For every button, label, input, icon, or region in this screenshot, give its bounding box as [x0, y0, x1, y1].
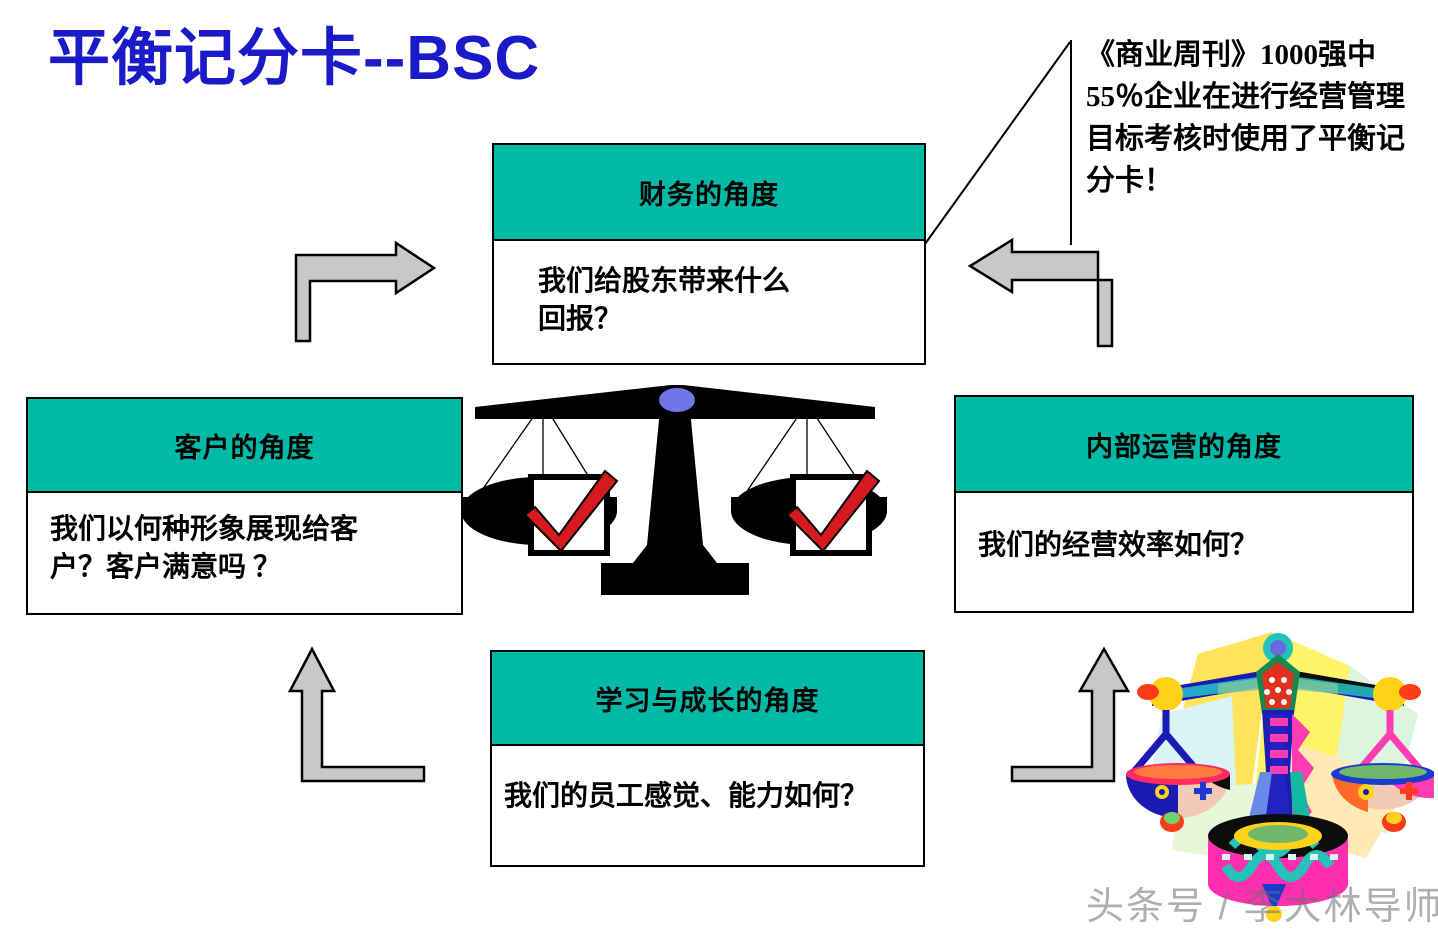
arrow-right-up-icon — [278, 645, 426, 785]
perspective-header-customer: 客户的角度 — [28, 399, 461, 493]
perspective-header-financial: 财务的角度 — [494, 145, 924, 241]
perspective-header-internal-operations: 内部运营的角度 — [956, 397, 1412, 493]
perspective-body-learning-growth: 我们的员工感觉、能力如何？ — [492, 746, 923, 816]
perspective-body-customer: 我们以何种形象展现给客 户？客户满意吗 ？ — [28, 493, 461, 587]
slide-canvas: 平衡记分卡--BSC 《商业周刊》1000强中55％企业在进行经营管理目标考核时… — [0, 0, 1438, 943]
balance-scale-icon — [455, 385, 895, 620]
callout-leader-line — [920, 38, 1076, 248]
watermark-text: 头条号 / 李大林导师 — [1086, 885, 1438, 929]
perspective-body-internal-operations: 我们的经营效率如何？ — [956, 493, 1412, 565]
callout-vertical-rule — [1070, 40, 1072, 245]
callout-text: 《商业周刊》1000强中55％企业在进行经营管理目标考核时使用了平衡记分卡！ — [1086, 34, 1416, 202]
arrow-up-right-icon — [288, 238, 438, 343]
libra-scales-figure-icon — [1122, 622, 1434, 922]
perspective-header-learning-growth: 学习与成长的角度 — [492, 652, 923, 746]
perspective-card-internal-operations: 内部运营的角度 我们的经营效率如何？ — [954, 395, 1414, 613]
arrow-down-left-icon — [962, 236, 1120, 348]
perspective-body-financial: 我们给股东带来什么 回报？ — [494, 241, 924, 339]
perspective-card-learning-growth: 学习与成长的角度 我们的员工感觉、能力如何？ — [490, 650, 925, 867]
perspective-card-customer: 客户的角度 我们以何种形象展现给客 户？客户满意吗 ？ — [26, 397, 463, 615]
page-title: 平衡记分卡--BSC — [48, 22, 540, 96]
perspective-card-financial: 财务的角度 我们给股东带来什么 回报？ — [492, 143, 926, 365]
